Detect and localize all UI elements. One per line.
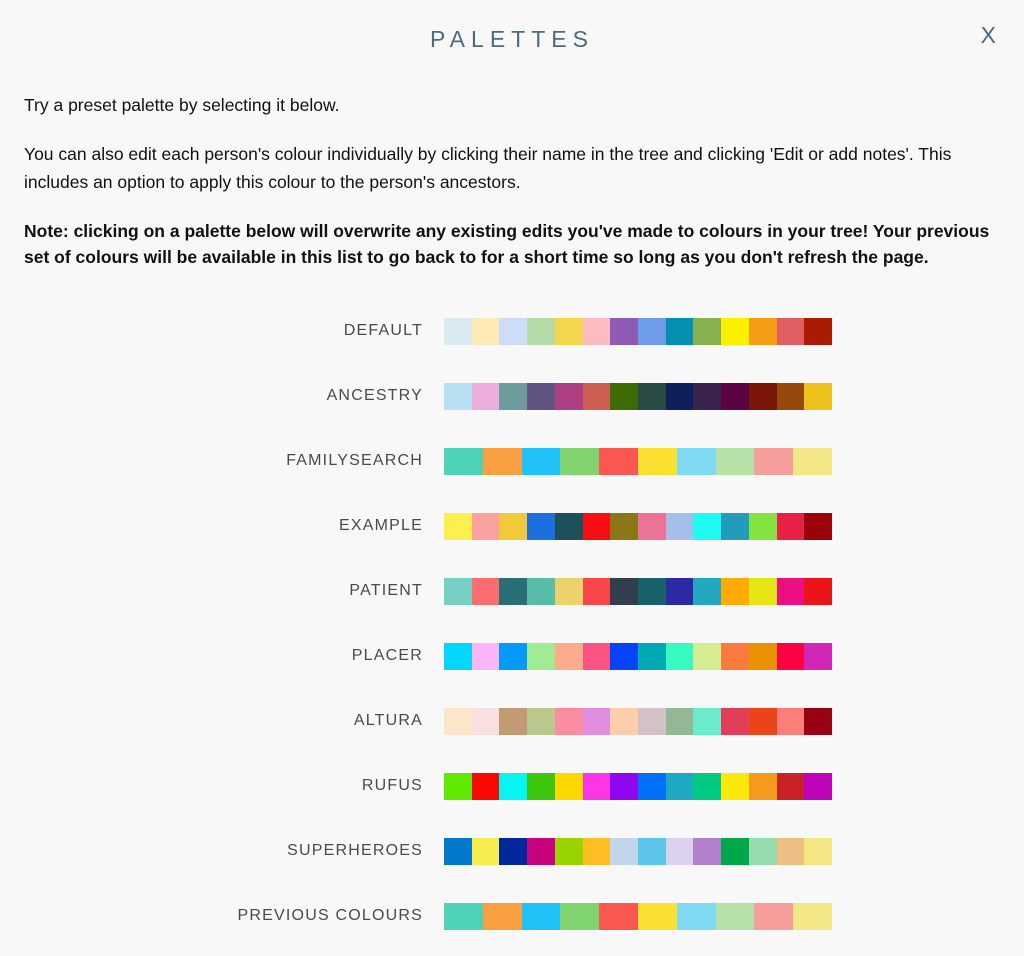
palette-swatch[interactable]: [599, 903, 638, 930]
palette-swatch-strip[interactable]: [444, 578, 832, 605]
palette-row-ancestry[interactable]: ANCESTRY: [24, 364, 1000, 429]
palette-row-placer[interactable]: PLACER: [24, 624, 1000, 689]
palette-swatch[interactable]: [638, 513, 666, 540]
palette-label: PLACER: [24, 647, 444, 665]
intro-paragraph-1: Try a preset palette by selecting it bel…: [24, 92, 1000, 119]
palette-swatch[interactable]: [472, 708, 500, 735]
palette-swatch[interactable]: [444, 643, 472, 670]
palette-swatch[interactable]: [804, 708, 832, 735]
palette-swatch[interactable]: [721, 513, 749, 540]
palette-swatch[interactable]: [522, 903, 561, 930]
palette-swatch[interactable]: [499, 643, 527, 670]
palette-swatch[interactable]: [472, 513, 500, 540]
palette-list: DEFAULTANCESTRYFAMILYSEARCHEXAMPLEPATIEN…: [0, 299, 1024, 949]
palette-label: ALTURA: [24, 712, 444, 730]
palette-swatch[interactable]: [444, 318, 472, 345]
page-title: PALETTES: [0, 0, 1024, 52]
palette-swatch[interactable]: [721, 773, 749, 800]
palette-swatch[interactable]: [610, 773, 638, 800]
palette-swatch[interactable]: [472, 318, 500, 345]
palette-swatch[interactable]: [777, 578, 805, 605]
palette-swatch[interactable]: [555, 643, 583, 670]
palette-swatch-strip[interactable]: [444, 448, 832, 475]
palette-swatch[interactable]: [638, 773, 666, 800]
palette-swatch[interactable]: [666, 578, 694, 605]
palette-swatch-strip[interactable]: [444, 773, 832, 800]
palette-swatch[interactable]: [721, 578, 749, 605]
palette-swatch[interactable]: [777, 773, 805, 800]
palette-swatch[interactable]: [610, 513, 638, 540]
palette-swatch[interactable]: [777, 318, 805, 345]
palette-swatch[interactable]: [749, 318, 777, 345]
palette-swatch[interactable]: [777, 383, 805, 410]
palette-swatch[interactable]: [693, 838, 721, 865]
palette-swatch[interactable]: [749, 643, 777, 670]
palette-swatch[interactable]: [804, 578, 832, 605]
palette-swatch[interactable]: [721, 318, 749, 345]
palette-swatch[interactable]: [610, 318, 638, 345]
palette-swatch-strip[interactable]: [444, 383, 832, 410]
intro-text: Try a preset palette by selecting it bel…: [0, 92, 1024, 271]
palette-swatch[interactable]: [793, 903, 832, 930]
palette-swatch[interactable]: [804, 383, 832, 410]
palette-row-rufus[interactable]: RUFUS: [24, 754, 1000, 819]
palette-row-familysearch[interactable]: FAMILYSEARCH: [24, 429, 1000, 494]
palette-swatch-strip[interactable]: [444, 903, 832, 930]
palette-swatch[interactable]: [638, 448, 677, 475]
palette-swatch[interactable]: [777, 643, 805, 670]
palette-swatch[interactable]: [444, 838, 472, 865]
palette-swatch[interactable]: [804, 513, 832, 540]
palette-swatch[interactable]: [527, 838, 555, 865]
palette-swatch[interactable]: [638, 383, 666, 410]
palette-swatch[interactable]: [499, 773, 527, 800]
palette-swatch[interactable]: [583, 708, 611, 735]
palette-swatch-strip[interactable]: [444, 513, 832, 540]
palette-swatch[interactable]: [583, 578, 611, 605]
palette-label: PREVIOUS COLOURS: [24, 907, 444, 925]
palette-swatch[interactable]: [721, 643, 749, 670]
palette-swatch[interactable]: [693, 513, 721, 540]
palette-swatch[interactable]: [693, 643, 721, 670]
palette-swatch[interactable]: [527, 318, 555, 345]
palette-swatch[interactable]: [754, 448, 793, 475]
palette-swatch[interactable]: [638, 903, 677, 930]
palette-swatch[interactable]: [527, 578, 555, 605]
palette-swatch[interactable]: [638, 838, 666, 865]
warning-note: Note: clicking on a palette below will o…: [24, 218, 1000, 271]
palette-row-superheroes[interactable]: SUPERHEROES: [24, 819, 1000, 884]
palette-swatch[interactable]: [749, 383, 777, 410]
palette-swatch[interactable]: [499, 838, 527, 865]
palette-swatch[interactable]: [527, 513, 555, 540]
palette-swatch[interactable]: [793, 448, 832, 475]
palette-swatch[interactable]: [555, 773, 583, 800]
palette-swatch[interactable]: [499, 578, 527, 605]
palette-swatch[interactable]: [610, 383, 638, 410]
palette-swatch[interactable]: [693, 383, 721, 410]
palette-swatch[interactable]: [804, 773, 832, 800]
palette-swatch[interactable]: [444, 773, 472, 800]
palette-swatch[interactable]: [583, 318, 611, 345]
palette-swatch[interactable]: [610, 708, 638, 735]
palette-swatch[interactable]: [499, 383, 527, 410]
palette-swatch[interactable]: [777, 708, 805, 735]
palette-swatch[interactable]: [693, 578, 721, 605]
palette-swatch[interactable]: [666, 838, 694, 865]
palette-swatch[interactable]: [749, 578, 777, 605]
palette-swatch[interactable]: [721, 838, 749, 865]
palette-swatch[interactable]: [666, 773, 694, 800]
palette-swatch[interactable]: [749, 513, 777, 540]
palette-swatch[interactable]: [472, 838, 500, 865]
palette-swatch-strip[interactable]: [444, 318, 832, 345]
palette-swatch[interactable]: [555, 708, 583, 735]
palette-swatch[interactable]: [583, 773, 611, 800]
palette-swatch[interactable]: [666, 643, 694, 670]
palette-swatch[interactable]: [583, 643, 611, 670]
palette-label: EXAMPLE: [24, 517, 444, 535]
palette-swatch[interactable]: [754, 903, 793, 930]
palette-swatch-strip[interactable]: [444, 643, 832, 670]
palette-swatch[interactable]: [666, 318, 694, 345]
palette-swatch[interactable]: [666, 708, 694, 735]
palette-swatch[interactable]: [527, 773, 555, 800]
palette-swatch[interactable]: [583, 513, 611, 540]
palette-swatch[interactable]: [666, 383, 694, 410]
palette-row-previous-colours[interactable]: PREVIOUS COLOURS: [24, 884, 1000, 949]
palette-swatch[interactable]: [804, 643, 832, 670]
palette-row-altura[interactable]: ALTURA: [24, 689, 1000, 754]
palette-swatch[interactable]: [499, 318, 527, 345]
intro-paragraph-2: You can also edit each person's colour i…: [24, 141, 1000, 195]
palette-swatch[interactable]: [638, 318, 666, 345]
palette-swatch[interactable]: [522, 448, 561, 475]
palette-swatch-strip[interactable]: [444, 708, 832, 735]
palette-swatch[interactable]: [610, 838, 638, 865]
palette-label: SUPERHEROES: [24, 842, 444, 860]
palette-swatch[interactable]: [472, 578, 500, 605]
palette-swatch[interactable]: [749, 708, 777, 735]
palette-swatch[interactable]: [472, 643, 500, 670]
palette-row-default[interactable]: DEFAULT: [24, 299, 1000, 364]
palette-swatch[interactable]: [693, 318, 721, 345]
palette-swatch[interactable]: [444, 448, 483, 475]
palette-swatch[interactable]: [716, 448, 755, 475]
palette-swatch[interactable]: [444, 708, 472, 735]
palette-swatch[interactable]: [583, 383, 611, 410]
palette-swatch[interactable]: [721, 383, 749, 410]
palette-swatch[interactable]: [721, 708, 749, 735]
palette-swatch[interactable]: [693, 773, 721, 800]
palette-swatch[interactable]: [483, 903, 522, 930]
close-icon[interactable]: X: [975, 22, 1002, 49]
palette-swatch[interactable]: [610, 578, 638, 605]
palette-swatch[interactable]: [527, 643, 555, 670]
palette-swatch[interactable]: [472, 383, 500, 410]
palette-swatch[interactable]: [749, 838, 777, 865]
palette-row-patient[interactable]: PATIENT: [24, 559, 1000, 624]
palette-swatch[interactable]: [555, 383, 583, 410]
palette-swatch[interactable]: [560, 448, 599, 475]
palette-swatch[interactable]: [638, 708, 666, 735]
palette-swatch[interactable]: [555, 838, 583, 865]
palette-swatch[interactable]: [444, 578, 472, 605]
palette-swatch[interactable]: [777, 838, 805, 865]
palette-swatch[interactable]: [777, 513, 805, 540]
palette-swatch[interactable]: [638, 643, 666, 670]
palette-swatch[interactable]: [804, 318, 832, 345]
palette-swatch[interactable]: [555, 513, 583, 540]
palette-row-example[interactable]: EXAMPLE: [24, 494, 1000, 559]
palette-swatch[interactable]: [677, 448, 716, 475]
palette-swatch[interactable]: [483, 448, 522, 475]
palette-swatch[interactable]: [555, 578, 583, 605]
palette-swatch[interactable]: [583, 838, 611, 865]
palette-swatch[interactable]: [693, 708, 721, 735]
palette-swatch[interactable]: [444, 383, 472, 410]
palette-label: ANCESTRY: [24, 387, 444, 405]
palette-label: DEFAULT: [24, 322, 444, 340]
palette-swatch[interactable]: [610, 643, 638, 670]
palette-swatch[interactable]: [527, 383, 555, 410]
palette-swatch[interactable]: [716, 903, 755, 930]
palette-swatch[interactable]: [499, 708, 527, 735]
palette-swatch[interactable]: [499, 513, 527, 540]
palette-swatch[interactable]: [677, 903, 716, 930]
palette-swatch[interactable]: [527, 708, 555, 735]
palette-swatch[interactable]: [444, 903, 483, 930]
palette-label: RUFUS: [24, 777, 444, 795]
palette-swatch[interactable]: [749, 773, 777, 800]
palette-swatch[interactable]: [666, 513, 694, 540]
palette-swatch[interactable]: [472, 773, 500, 800]
palette-swatch[interactable]: [599, 448, 638, 475]
palette-swatch[interactable]: [804, 838, 832, 865]
palette-swatch[interactable]: [555, 318, 583, 345]
palette-swatch[interactable]: [638, 578, 666, 605]
palette-label: FAMILYSEARCH: [24, 452, 444, 470]
palette-label: PATIENT: [24, 582, 444, 600]
palette-swatch-strip[interactable]: [444, 838, 832, 865]
palette-swatch[interactable]: [560, 903, 599, 930]
palettes-modal: PALETTES X Try a preset palette by selec…: [0, 0, 1024, 956]
palette-swatch[interactable]: [444, 513, 472, 540]
